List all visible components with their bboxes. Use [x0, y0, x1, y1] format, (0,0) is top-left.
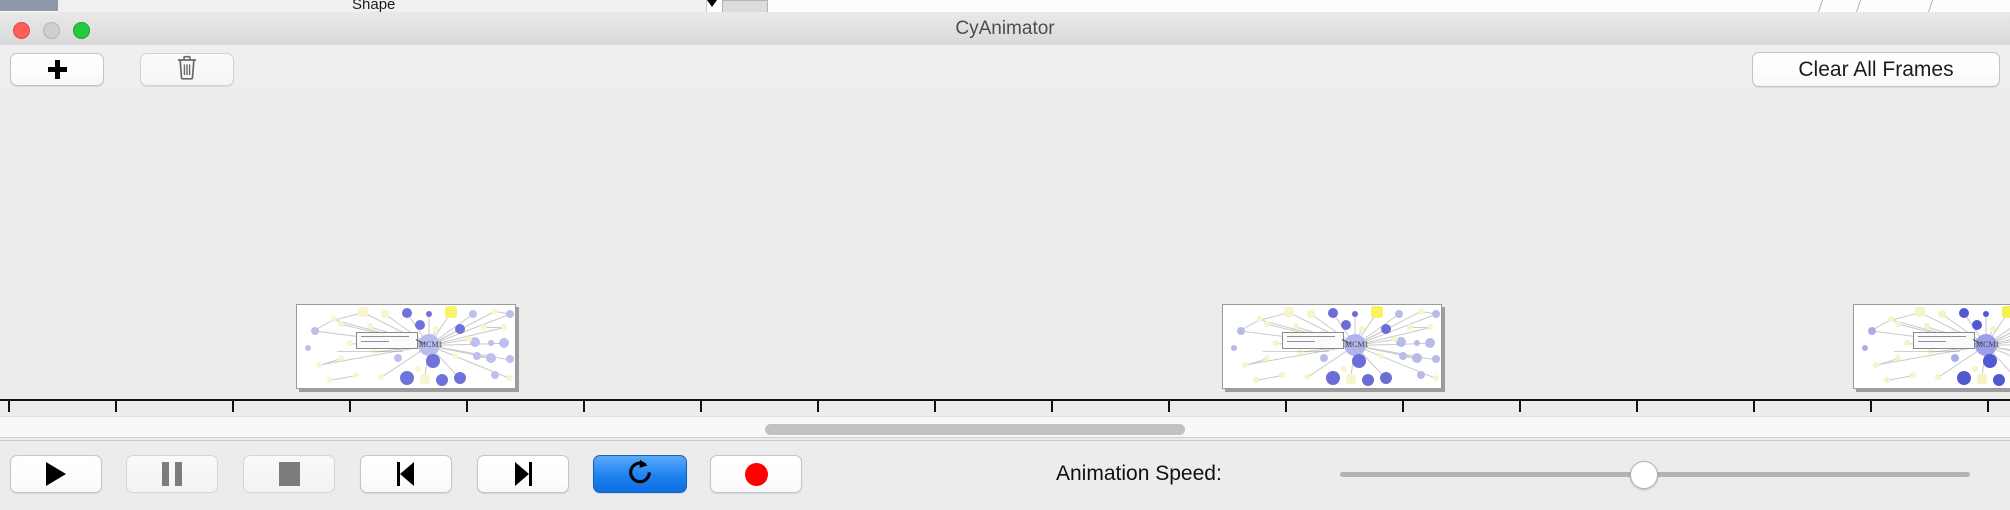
- graph-node: [1972, 366, 1978, 372]
- graph-node: [1910, 372, 1916, 378]
- timeline-frame-thumbnail[interactable]: MCM1: [1222, 304, 1442, 389]
- graph-node: [347, 340, 353, 346]
- graph-node: [1888, 316, 1894, 322]
- axis-tick-major: [232, 401, 234, 412]
- play-icon: [46, 462, 66, 486]
- graph-node: [367, 323, 373, 329]
- graph-node: [311, 327, 319, 335]
- window-title: CyAnimator: [0, 12, 2010, 45]
- graph-node: [420, 374, 430, 384]
- graph-node: [1380, 372, 1392, 384]
- graph-node: [1378, 353, 1384, 359]
- graph-node: [506, 355, 514, 363]
- add-frame-button[interactable]: [10, 53, 104, 86]
- graph-node: [305, 345, 311, 351]
- graph-annotation-text-line: [361, 341, 390, 342]
- graph-node: [501, 324, 507, 330]
- axis-tick-minor: [1870, 401, 1872, 412]
- axis-tick-major: [700, 401, 702, 412]
- graph-node: [1432, 355, 1440, 363]
- graph-node: [1284, 307, 1294, 317]
- graph-node: [402, 308, 412, 318]
- graph-node: [381, 310, 389, 318]
- graph-node: [1417, 371, 1425, 379]
- axis-tick-major: [1402, 401, 1404, 412]
- graph-node: [1993, 374, 2005, 386]
- previous-frame-button[interactable]: [360, 455, 452, 493]
- graph-node: [1304, 374, 1310, 380]
- graph-node: [415, 366, 421, 372]
- graph-node: [1264, 321, 1270, 327]
- graph-node: [436, 374, 448, 386]
- graph-node: [327, 377, 333, 383]
- graph-node: [2002, 306, 2010, 318]
- graph-node: [1326, 371, 1340, 385]
- clear-all-frames-button[interactable]: Clear All Frames: [1752, 52, 2000, 87]
- graph-node: [454, 372, 466, 384]
- frame-network-graph: MCM1: [1223, 305, 1441, 388]
- graph-node: [415, 320, 425, 330]
- graph-node: [499, 338, 509, 348]
- axis-tick-major: [466, 401, 468, 412]
- graph-node: [1352, 311, 1358, 317]
- graph-caption-text: [1263, 351, 1329, 353]
- graph-node: [1328, 308, 1338, 318]
- graph-node: [1264, 355, 1270, 361]
- graph-node: [1414, 340, 1420, 346]
- axis-tick-minor: [349, 401, 351, 412]
- graph-node: [394, 354, 402, 362]
- animation-speed-slider-thumb[interactable]: [1630, 461, 1658, 489]
- graph-node: [1433, 375, 1439, 381]
- next-frame-button[interactable]: [477, 455, 569, 493]
- graph-node: [1868, 327, 1876, 335]
- graph-node: [331, 316, 337, 322]
- animation-speed-label: Animation Speed:: [1056, 455, 1222, 493]
- graph-node: [1346, 374, 1356, 384]
- graph-node: [338, 321, 344, 327]
- graph-node: [1352, 354, 1366, 368]
- stop-icon: [279, 462, 300, 486]
- graph-caption-text: [1894, 351, 1960, 353]
- cyanimator-window: Shape CyAnimator: [0, 0, 2010, 510]
- graph-node: [1392, 336, 1398, 342]
- axis-tick-major: [1168, 401, 1170, 412]
- graph-node: [1895, 355, 1901, 361]
- frame-network-graph: MCM1: [1854, 305, 2010, 388]
- graph-node: [1972, 320, 1982, 330]
- graph-node: [1242, 362, 1248, 368]
- graph-node: [1983, 354, 1997, 368]
- play-button[interactable]: [10, 455, 102, 493]
- axis-tick-minor: [1519, 401, 1521, 412]
- axis-tick-minor: [1753, 401, 1755, 412]
- graph-node: [1407, 324, 1413, 330]
- background-tab: [240, 0, 307, 12]
- graph-node: [1938, 310, 1946, 318]
- graph-node: [1371, 306, 1383, 318]
- background-tab: [186, 0, 241, 12]
- axis-tick-minor: [583, 401, 585, 412]
- trash-icon: [176, 55, 198, 85]
- graph-node: [1904, 340, 1910, 346]
- graph-node: [1341, 320, 1351, 330]
- graph-node: [506, 310, 514, 318]
- graph-node: [1341, 366, 1347, 372]
- graph-node: [1237, 327, 1245, 335]
- graph-node: [1425, 338, 1435, 348]
- graph-node: [466, 336, 472, 342]
- pause-icon: [162, 462, 182, 486]
- graph-node: [1957, 371, 1971, 385]
- playback-controlbar: Animation Speed:: [0, 440, 2010, 510]
- graph-node: [469, 310, 477, 318]
- graph-node: [492, 308, 498, 314]
- graph-node: [486, 353, 496, 363]
- graph-node: [1273, 340, 1279, 346]
- pause-button[interactable]: [126, 455, 218, 493]
- graph-node: [507, 375, 513, 381]
- graph-node: [1412, 353, 1422, 363]
- graph-node: [445, 306, 457, 318]
- timeline-frame-thumbnail[interactable]: MCM1: [296, 304, 516, 389]
- record-icon: [745, 463, 768, 486]
- skip-next-icon: [511, 462, 535, 486]
- graph-node: [1990, 326, 1996, 332]
- background-divider: [1856, 0, 1861, 12]
- graph-node: [1362, 374, 1374, 386]
- timeline-scrollbar-thumb[interactable]: [765, 424, 1185, 435]
- graph-node: [1320, 354, 1328, 362]
- graph-node: [1427, 324, 1433, 330]
- graph-node: [1279, 372, 1285, 378]
- graph-caption-text: [337, 351, 403, 353]
- axis-tick-minor: [1285, 401, 1287, 412]
- loop-button[interactable]: [593, 455, 687, 493]
- graph-node: [1935, 374, 1941, 380]
- graph-node: [452, 353, 458, 359]
- graph-node: [433, 326, 439, 332]
- graph-annotation-text-line: [361, 336, 409, 337]
- frame-network-graph: MCM1: [297, 305, 515, 388]
- graph-node: [378, 374, 384, 380]
- graph-node: [316, 362, 322, 368]
- loop-icon: [627, 458, 654, 491]
- background-dark-block: [0, 0, 58, 11]
- graph-node: [455, 324, 465, 334]
- background-tab: [58, 0, 139, 12]
- graph-node: [1862, 345, 1868, 351]
- stop-button[interactable]: [243, 455, 335, 493]
- graph-node: [1253, 377, 1259, 383]
- graph-node: [1977, 374, 1987, 384]
- graph-annotation-text-line: [1918, 336, 1966, 337]
- graph-node: [1951, 354, 1959, 362]
- graph-node: [1293, 323, 1299, 329]
- timeline-axis: [0, 399, 2010, 401]
- axis-tick-minor: [115, 401, 117, 412]
- graph-node: [426, 354, 440, 368]
- graph-node: [1396, 337, 1406, 347]
- background-divider: [1818, 0, 1823, 12]
- axis-tick-minor: [817, 401, 819, 412]
- timeline-panel[interactable]: MCM1MCM1MCM1 2131415161718 Seconds: [0, 89, 2010, 412]
- graph-node: [1359, 326, 1365, 332]
- plus-icon: [48, 60, 67, 79]
- graph-annotation-text-line: [1287, 336, 1335, 337]
- graph-node: [1924, 323, 1930, 329]
- graph-node: [470, 337, 480, 347]
- axis-tick-minor: [1987, 401, 1989, 412]
- graph-node: [1418, 308, 1424, 314]
- graph-node: [488, 340, 494, 346]
- axis-tick-major: [934, 401, 936, 412]
- graph-node: [1399, 352, 1407, 360]
- toolbar: Clear All Frames: [0, 45, 2010, 91]
- graph-node: [1381, 324, 1391, 334]
- delete-frame-button[interactable]: [140, 53, 234, 86]
- timeline-frame-thumbnail[interactable]: MCM1: [1853, 304, 2010, 389]
- graph-node: [358, 307, 368, 317]
- graph-node: [1895, 321, 1901, 327]
- axis-tick-major: [8, 401, 10, 412]
- graph-node: [473, 352, 481, 360]
- graph-node: [491, 371, 499, 379]
- graph-node: [1395, 310, 1403, 318]
- background-caret-icon: [707, 0, 717, 7]
- graph-node: [1915, 307, 1925, 317]
- graph-node: [1307, 310, 1315, 318]
- background-tab: [138, 0, 187, 12]
- graph-node: [400, 371, 414, 385]
- skip-previous-icon: [394, 462, 418, 486]
- graph-node: [1959, 308, 1969, 318]
- graph-node: [1432, 310, 1440, 318]
- graph-node: [1257, 316, 1263, 322]
- background-divider: [1928, 0, 1933, 12]
- graph-node: [481, 324, 487, 330]
- graph-node: [426, 311, 432, 317]
- graph-node: [1983, 311, 1989, 317]
- record-button[interactable]: [710, 455, 802, 493]
- axis-tick-minor: [1051, 401, 1053, 412]
- clear-all-frames-label: Clear All Frames: [1798, 58, 1953, 82]
- titlebar: CyAnimator: [0, 12, 2010, 46]
- graph-node: [353, 372, 359, 378]
- graph-node: [1873, 362, 1879, 368]
- graph-node: [338, 355, 344, 361]
- graph-node: [1231, 345, 1237, 351]
- graph-annotation-text-line: [1918, 341, 1947, 342]
- axis-tick-minor: [1636, 401, 1638, 412]
- graph-annotation-text-line: [1287, 341, 1316, 342]
- graph-node: [1884, 377, 1890, 383]
